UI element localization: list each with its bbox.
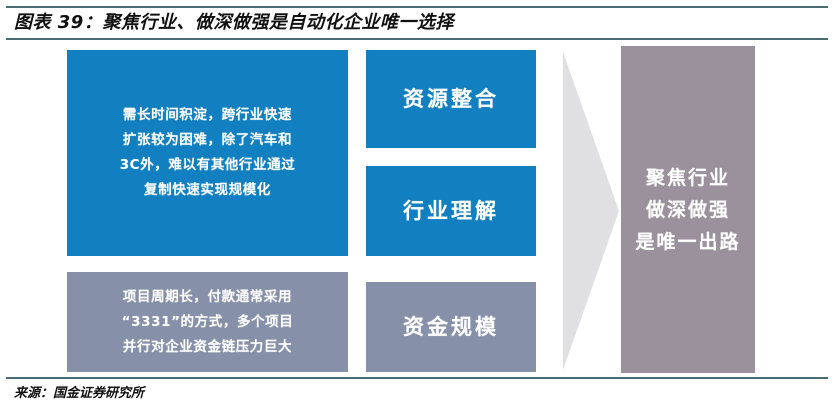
mid-box-capital-scale-label: 资金规模 [403, 312, 499, 342]
mid-box-resource-integration-label: 资源整合 [403, 84, 499, 114]
mid-box-capital-scale: 资金规模 [366, 282, 536, 372]
mid-box-industry-understanding: 行业理解 [366, 166, 536, 256]
figure-title: 图表 39：聚焦行业、做深做强是自动化企业唯一选择 [14, 10, 804, 36]
mid-box-industry-understanding-label: 行业理解 [403, 196, 499, 226]
source-note: 来源：国金证券研究所 [14, 384, 144, 404]
left-box-industry-knowhow: 需长时间积淀，跨行业快速 扩张较为困难，除了汽车和 3C外，难以有其他行业通过 … [67, 50, 348, 256]
left-box-capital-pressure: 项目周期长，付款通常采用 “3331”的方式，多个项目 并行对企业资金链压力巨大 [67, 272, 348, 372]
left-box-industry-knowhow-text: 需长时间积淀，跨行业快速 扩张较为困难，除了汽车和 3C外，难以有其他行业通过 … [102, 103, 314, 203]
figure-canvas: 图表 39：聚焦行业、做深做强是自动化企业唯一选择 需长时间积淀，跨行业快速 扩… [0, 0, 834, 410]
title-bottom-rule [6, 38, 828, 40]
left-box-capital-pressure-text: 项目周期长，付款通常采用 “3331”的方式，多个项目 并行对企业资金链压力巨大 [104, 285, 312, 360]
title-top-rule [6, 6, 828, 8]
mid-box-resource-integration: 资源整合 [366, 50, 536, 148]
conclusion-box-text: 聚焦行业 做深做强 是唯一出路 [635, 162, 740, 258]
conclusion-box: 聚焦行业 做深做强 是唯一出路 [621, 46, 755, 373]
right-arrow-icon [563, 52, 619, 370]
source-top-rule [6, 377, 828, 379]
